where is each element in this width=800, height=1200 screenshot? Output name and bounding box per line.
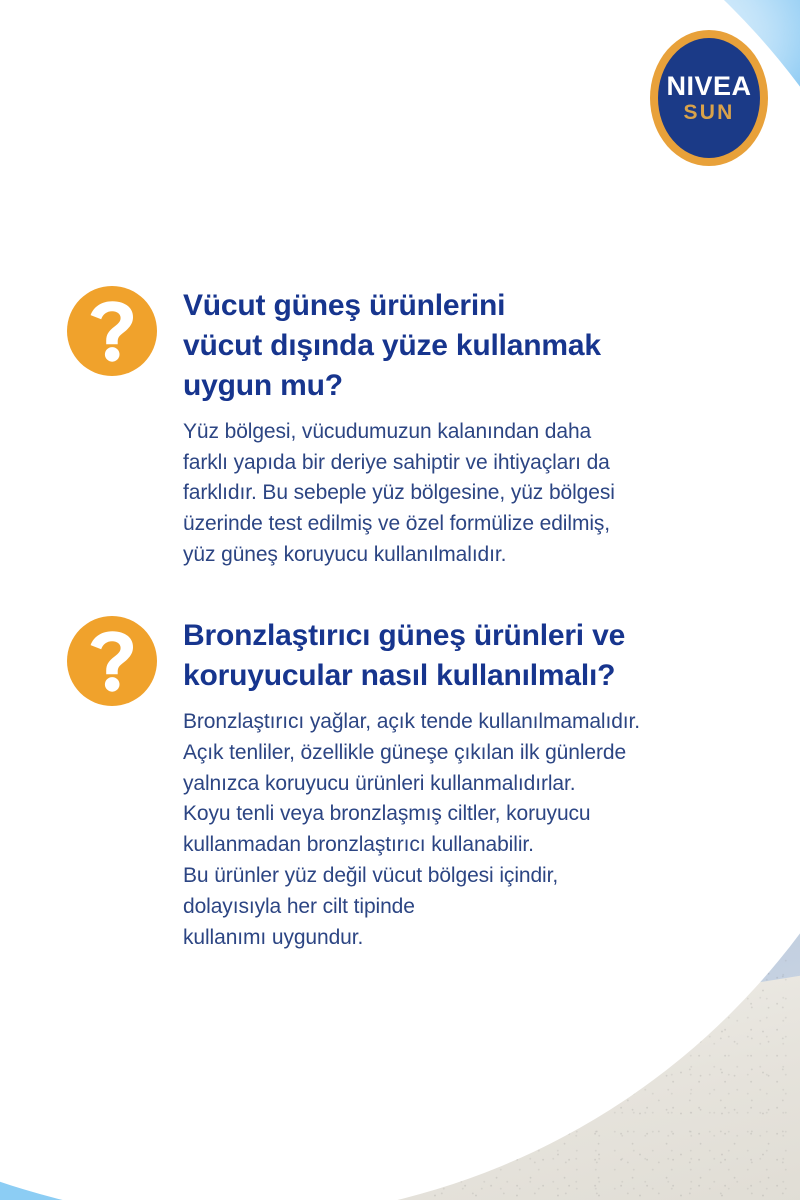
faq-question: Bronzlaştırıcı güneş ürünleri ve koruyuc…	[183, 616, 743, 696]
question-mark-icon	[67, 286, 157, 376]
logo-brand-name: NIVEA	[666, 73, 751, 100]
faq-text-block: Bronzlaştırıcı güneş ürünleri ve koruyuc…	[183, 616, 743, 954]
logo-inner-disc: NIVEA SUN	[658, 38, 760, 158]
nivea-sun-faq-poster: NIVEA SUN Vücut güneş ürünlerini vücut d…	[0, 0, 800, 1200]
faq-answer: Bronzlaştırıcı yağlar, açık tende kullan…	[183, 696, 743, 954]
faq-text-block: Vücut güneş ürünlerini vücut dışında yüz…	[183, 286, 743, 571]
faq-answer: Yüz bölgesi, vücudumuzun kalanından daha…	[183, 406, 743, 571]
white-content-disc	[0, 0, 800, 1200]
faq-question: Vücut güneş ürünlerini vücut dışında yüz…	[183, 286, 743, 406]
question-mark-icon	[67, 616, 157, 706]
logo-sub-brand-name: SUN	[684, 102, 735, 123]
nivea-sun-logo: NIVEA SUN	[650, 30, 768, 166]
